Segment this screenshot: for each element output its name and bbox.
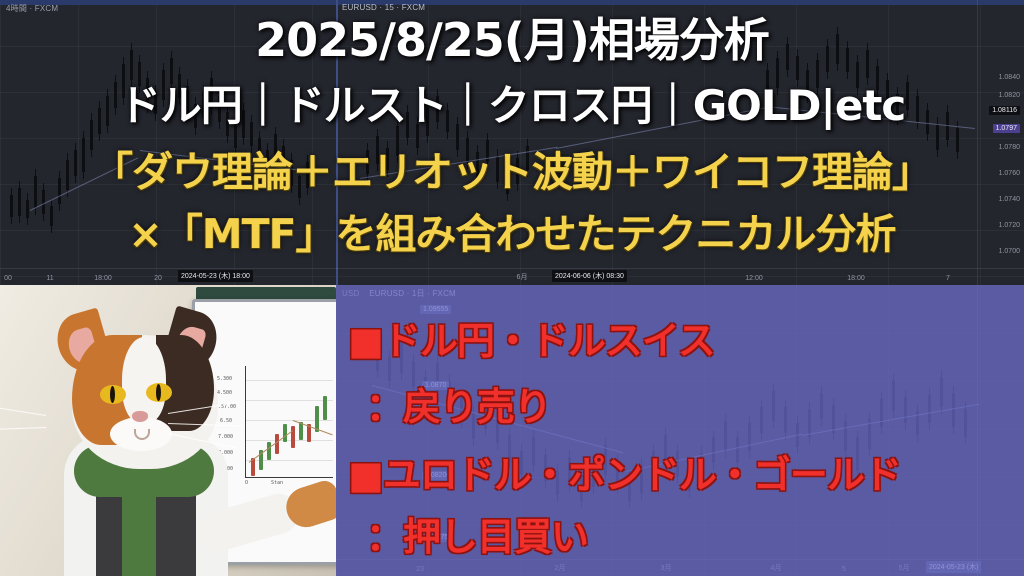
bullet-line-1: ■ドル円・ドルスイス [348,310,715,365]
x-tick-label: 20 [154,275,162,282]
cat-head-patch-white [122,337,166,423]
x-tick-label: 6月 [517,272,528,282]
candle [275,434,279,454]
candle [323,396,327,420]
bullet-line-2: ：戻り売り [366,376,551,431]
bullet-line-3: ■ユロドル・ポンドル・ゴールド [348,444,901,499]
title-line-2: ドル円｜ドルスト｜クロス円｜GOLD|etc [0,72,1024,133]
cat-scarf-tail [122,483,156,576]
video-thumbnail: 4時間 · FXCM [0,0,1024,576]
x-tick-label: 00 [4,275,12,282]
title-line-3: 「ダウ理論＋エリオット波動＋ワイコフ理論」 [0,138,1024,198]
cat-eye-left [100,385,126,404]
x-tick-label: 18:00 [847,275,865,282]
x-axis-top-left: 00 11 18:00 20 [0,268,336,285]
cat-nose [132,411,148,422]
x-tick-label: 12:00 [745,275,763,282]
cat-eye-right [146,383,172,402]
time-badge-top-left: 2024-05-23 (木) 18:00 [178,270,253,282]
time-badge-top-right: 2024-06-06 (木) 08:30 [552,270,627,282]
x-tick-label: 11 [46,275,53,282]
x-tick-label: 7 [946,275,950,282]
cat-character [18,307,268,576]
x-axis-top-right: 6月 12:00 18:00 7 [336,268,1024,285]
bullet-line-4: ：押し目買い [366,506,588,561]
chart-x-label: Stan [271,480,283,486]
x-tick-label: 18:00 [94,275,112,282]
presenter-photo: 5.300 4.500 .57.00 6.50 7.000 8.000 0.00… [0,285,336,576]
title-line-1: 2025/8/25(月)相場分析 [0,4,1024,70]
title-line-4: ×「MTF」を組み合わせたテクニカル分析 [0,200,1024,260]
